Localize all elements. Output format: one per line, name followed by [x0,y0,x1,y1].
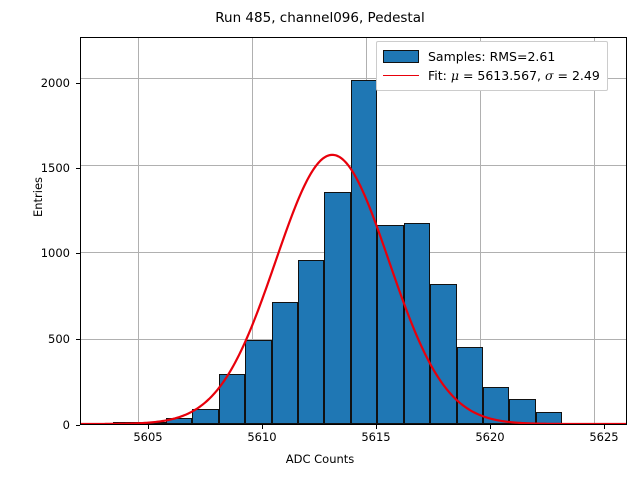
legend-fit-prefix: Fit: [428,68,451,83]
legend-fit-mu-value: = 5613.567, [459,68,545,83]
y-tick-label-500: 500 [0,332,70,346]
x-tick-mark-5625 [604,425,605,429]
x-tick-label-5605: 5605 [118,430,178,444]
y-tick-label-0: 0 [0,418,70,432]
x-tick-mark-5610 [262,425,263,429]
legend-fit-sigma-value: = 2.49 [554,68,600,83]
legend-line-fit-icon [383,75,419,76]
y-tick-mark-0 [76,425,80,426]
x-tick-label-5610: 5610 [232,430,292,444]
x-tick-label-5620: 5620 [460,430,520,444]
legend-fit-mu-symbol: μ [451,68,459,83]
y-axis-title: Entries [31,137,45,257]
x-tick-mark-5620 [490,425,491,429]
plot-area [80,37,627,425]
x-tick-mark-5615 [376,425,377,429]
chart-figure: Run 485, channel096, Pedestal 0 500 1000… [0,0,640,480]
legend-row-fit: Fit: μ = 5613.567, σ = 2.49 [383,66,600,85]
x-axis-title: ADC Counts [0,452,640,466]
legend-label-samples: Samples: RMS=2.61 [428,49,555,64]
legend-fit-sigma-symbol: σ [545,68,554,83]
chart-title: Run 485, channel096, Pedestal [0,10,640,26]
legend-label-fit: Fit: μ = 5613.567, σ = 2.49 [428,68,600,83]
chart-legend[interactable]: Samples: RMS=2.61 Fit: μ = 5613.567, σ =… [376,41,608,91]
x-tick-mark-5605 [148,425,149,429]
legend-row-samples: Samples: RMS=2.61 [383,47,600,66]
x-tick-label-5625: 5625 [574,430,634,444]
legend-swatch-samples-icon [383,50,419,63]
x-tick-label-5615: 5615 [346,430,406,444]
y-tick-label-2000: 2000 [0,76,70,90]
gaussian-fit-curve [81,38,626,424]
